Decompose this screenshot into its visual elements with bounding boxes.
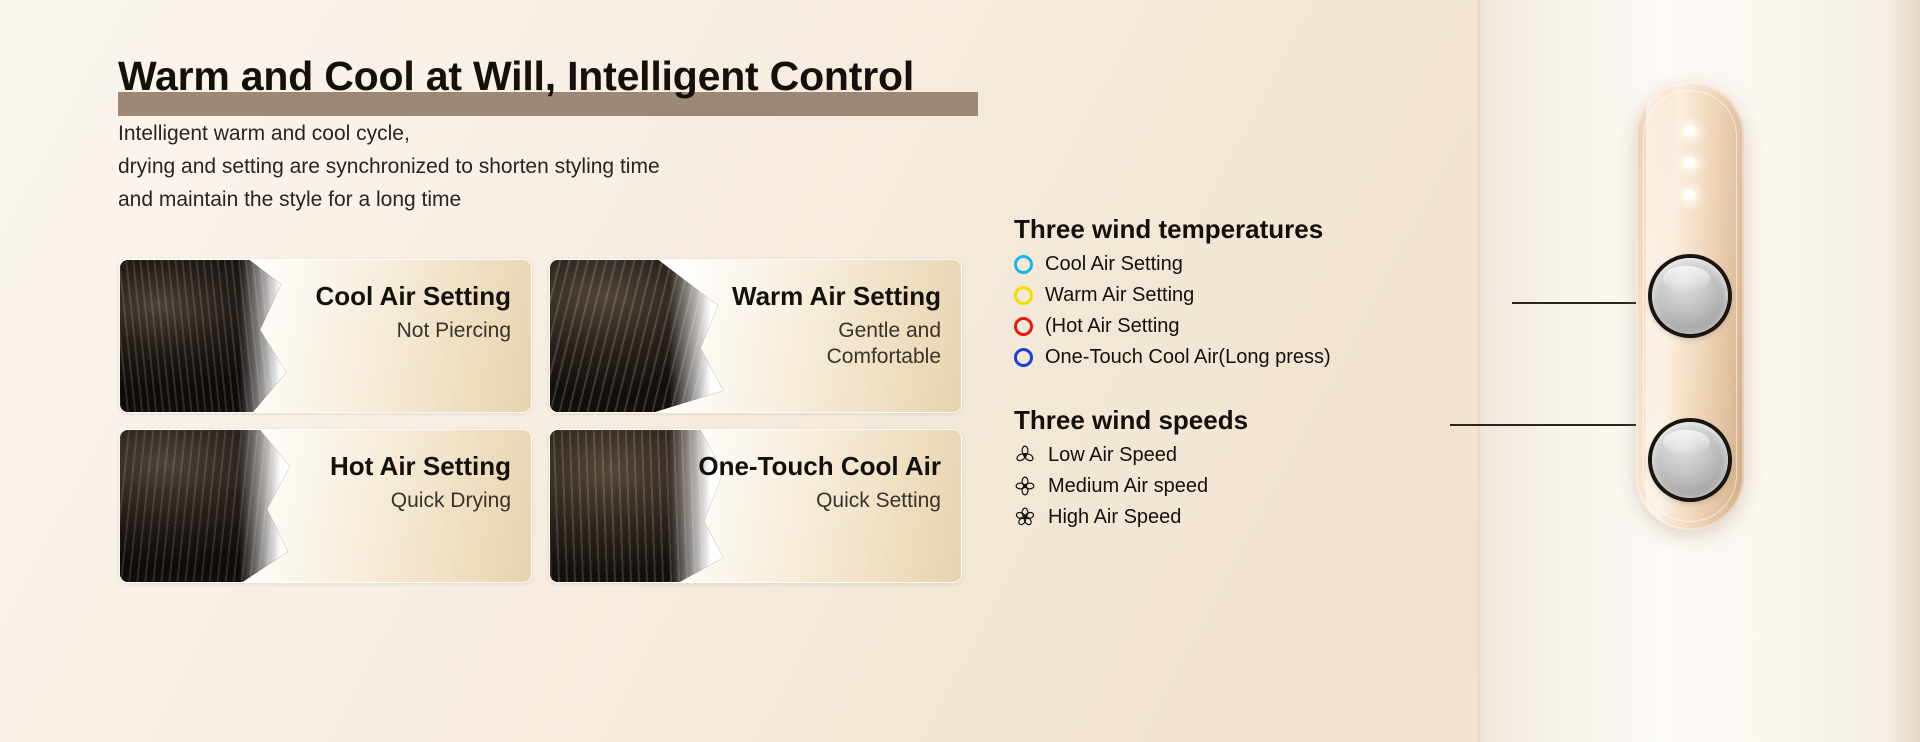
leader-line-temperature	[1512, 302, 1636, 304]
headline-block: Warm and Cool at Will, Intelligent Contr…	[118, 52, 914, 100]
leader-line-speed	[1450, 424, 1636, 426]
card-title: Hot Air Setting	[251, 452, 511, 481]
subcopy-block: Intelligent warm and cool cycle, drying …	[118, 118, 660, 216]
legend-item-warm-air[interactable]: Warm Air Setting	[1014, 283, 1484, 307]
feature-card-warm-air[interactable]: Warm Air Setting Gentle and Comfortable	[549, 259, 962, 413]
legend-item-label: (Hot Air Setting	[1045, 314, 1180, 338]
subcopy-line-2: drying and setting are synchronized to s…	[118, 151, 660, 184]
card-title: Warm Air Setting	[681, 282, 941, 311]
hair-dryer-handle	[1636, 82, 1744, 530]
legend-item-label: High Air Speed	[1048, 505, 1181, 529]
subcopy-line-3: and maintain the style for a long time	[118, 184, 660, 217]
feature-card-one-touch-cool-air[interactable]: One-Touch Cool Air Quick Setting	[549, 429, 962, 583]
legend-heading: Three wind speeds	[1014, 405, 1484, 436]
card-subtitle-line-2: Comfortable	[681, 344, 941, 370]
fan-3-blade-icon	[1014, 444, 1036, 466]
legend-heading: Three wind temperatures	[1014, 214, 1484, 245]
legend-item-high-speed[interactable]: High Air Speed	[1014, 505, 1484, 529]
feature-card-grid: Cool Air Setting Not Piercing Warm Air S…	[119, 259, 962, 599]
fan-4-blade-icon	[1014, 475, 1036, 497]
card-subtitle: Quick Drying	[251, 488, 511, 514]
legend-item-label: One-Touch Cool Air(Long press)	[1045, 345, 1331, 369]
legend-item-medium-speed[interactable]: Medium Air speed	[1014, 474, 1484, 498]
card-subtitle: Gentle and Comfortable	[681, 318, 941, 371]
feature-card-hot-air[interactable]: Hot Air Setting Quick Drying	[119, 429, 532, 583]
legend-item-low-speed[interactable]: Low Air Speed	[1014, 443, 1484, 467]
legend-item-label: Medium Air speed	[1048, 474, 1208, 498]
card-subtitle-line-1: Gentle and	[681, 318, 941, 344]
card-subtitle: Quick Setting	[681, 488, 941, 514]
legend-item-label: Cool Air Setting	[1045, 252, 1183, 276]
wall-edge-highlight	[1478, 0, 1481, 742]
card-subtitle: Not Piercing	[251, 318, 511, 344]
wind-speeds-legend: Three wind speeds Low Air Speed Medium A…	[1014, 405, 1484, 529]
card-title: Cool Air Setting	[251, 282, 511, 311]
legend-item-label: Warm Air Setting	[1045, 283, 1194, 307]
warm-air-ring-icon	[1014, 286, 1033, 305]
fan-5-blade-icon	[1014, 506, 1036, 528]
infographic-canvas: Warm and Cool at Will, Intelligent Contr…	[0, 0, 1920, 742]
led-indicator-1	[1684, 125, 1697, 138]
legend-item-label: Low Air Speed	[1048, 443, 1177, 467]
led-indicator-3	[1684, 189, 1697, 202]
legend-item-cool-air[interactable]: Cool Air Setting	[1014, 252, 1484, 276]
card-title: One-Touch Cool Air	[681, 452, 941, 481]
page-title: Warm and Cool at Will, Intelligent Contr…	[118, 52, 914, 100]
hot-air-ring-icon	[1014, 317, 1033, 336]
legend-item-hot-air[interactable]: (Hot Air Setting	[1014, 314, 1484, 338]
speed-button[interactable]	[1652, 422, 1728, 498]
wall-right-shadow	[1886, 0, 1920, 742]
card-row-bottom: Hot Air Setting Quick Drying One-Touch C…	[119, 429, 962, 583]
wind-temperatures-legend: Three wind temperatures Cool Air Setting…	[1014, 214, 1484, 369]
temperature-button[interactable]	[1652, 258, 1728, 334]
led-indicator-2	[1684, 157, 1697, 170]
one-touch-cool-air-ring-icon	[1014, 348, 1033, 367]
legend-item-one-touch-cool-air[interactable]: One-Touch Cool Air(Long press)	[1014, 345, 1484, 369]
card-row-top: Cool Air Setting Not Piercing Warm Air S…	[119, 259, 962, 413]
cool-air-ring-icon	[1014, 255, 1033, 274]
subcopy-line-1: Intelligent warm and cool cycle,	[118, 118, 660, 151]
feature-card-cool-air[interactable]: Cool Air Setting Not Piercing	[119, 259, 532, 413]
